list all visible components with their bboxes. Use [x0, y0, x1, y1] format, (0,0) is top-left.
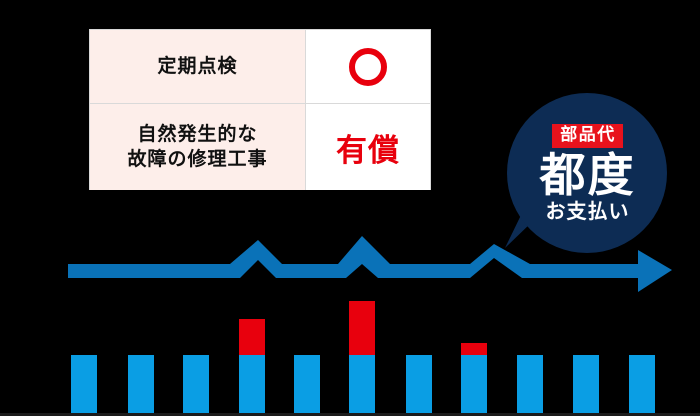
- bar-segment-base: [629, 355, 655, 416]
- bar-segment-base: [128, 355, 154, 416]
- bar-segment-base: [406, 355, 432, 416]
- bar-segment-base: [461, 355, 487, 416]
- bar-segment-base: [517, 355, 543, 416]
- bar-segment-base: [294, 355, 320, 416]
- cost-bar-chart: [0, 0, 700, 416]
- bar-segment-parts-cost: [239, 319, 265, 355]
- bar-segment-base: [71, 355, 97, 416]
- bar-segment-base: [349, 355, 375, 416]
- bar-segment-base: [239, 355, 265, 416]
- bar-segment-parts-cost: [349, 301, 375, 355]
- bar-segment-parts-cost: [461, 343, 487, 355]
- bar-segment-base: [183, 355, 209, 416]
- bar-segment-base: [573, 355, 599, 416]
- infographic-canvas: 定期点検 自然発生的な 故障の修理工事 有償 部品代 都: [0, 0, 700, 416]
